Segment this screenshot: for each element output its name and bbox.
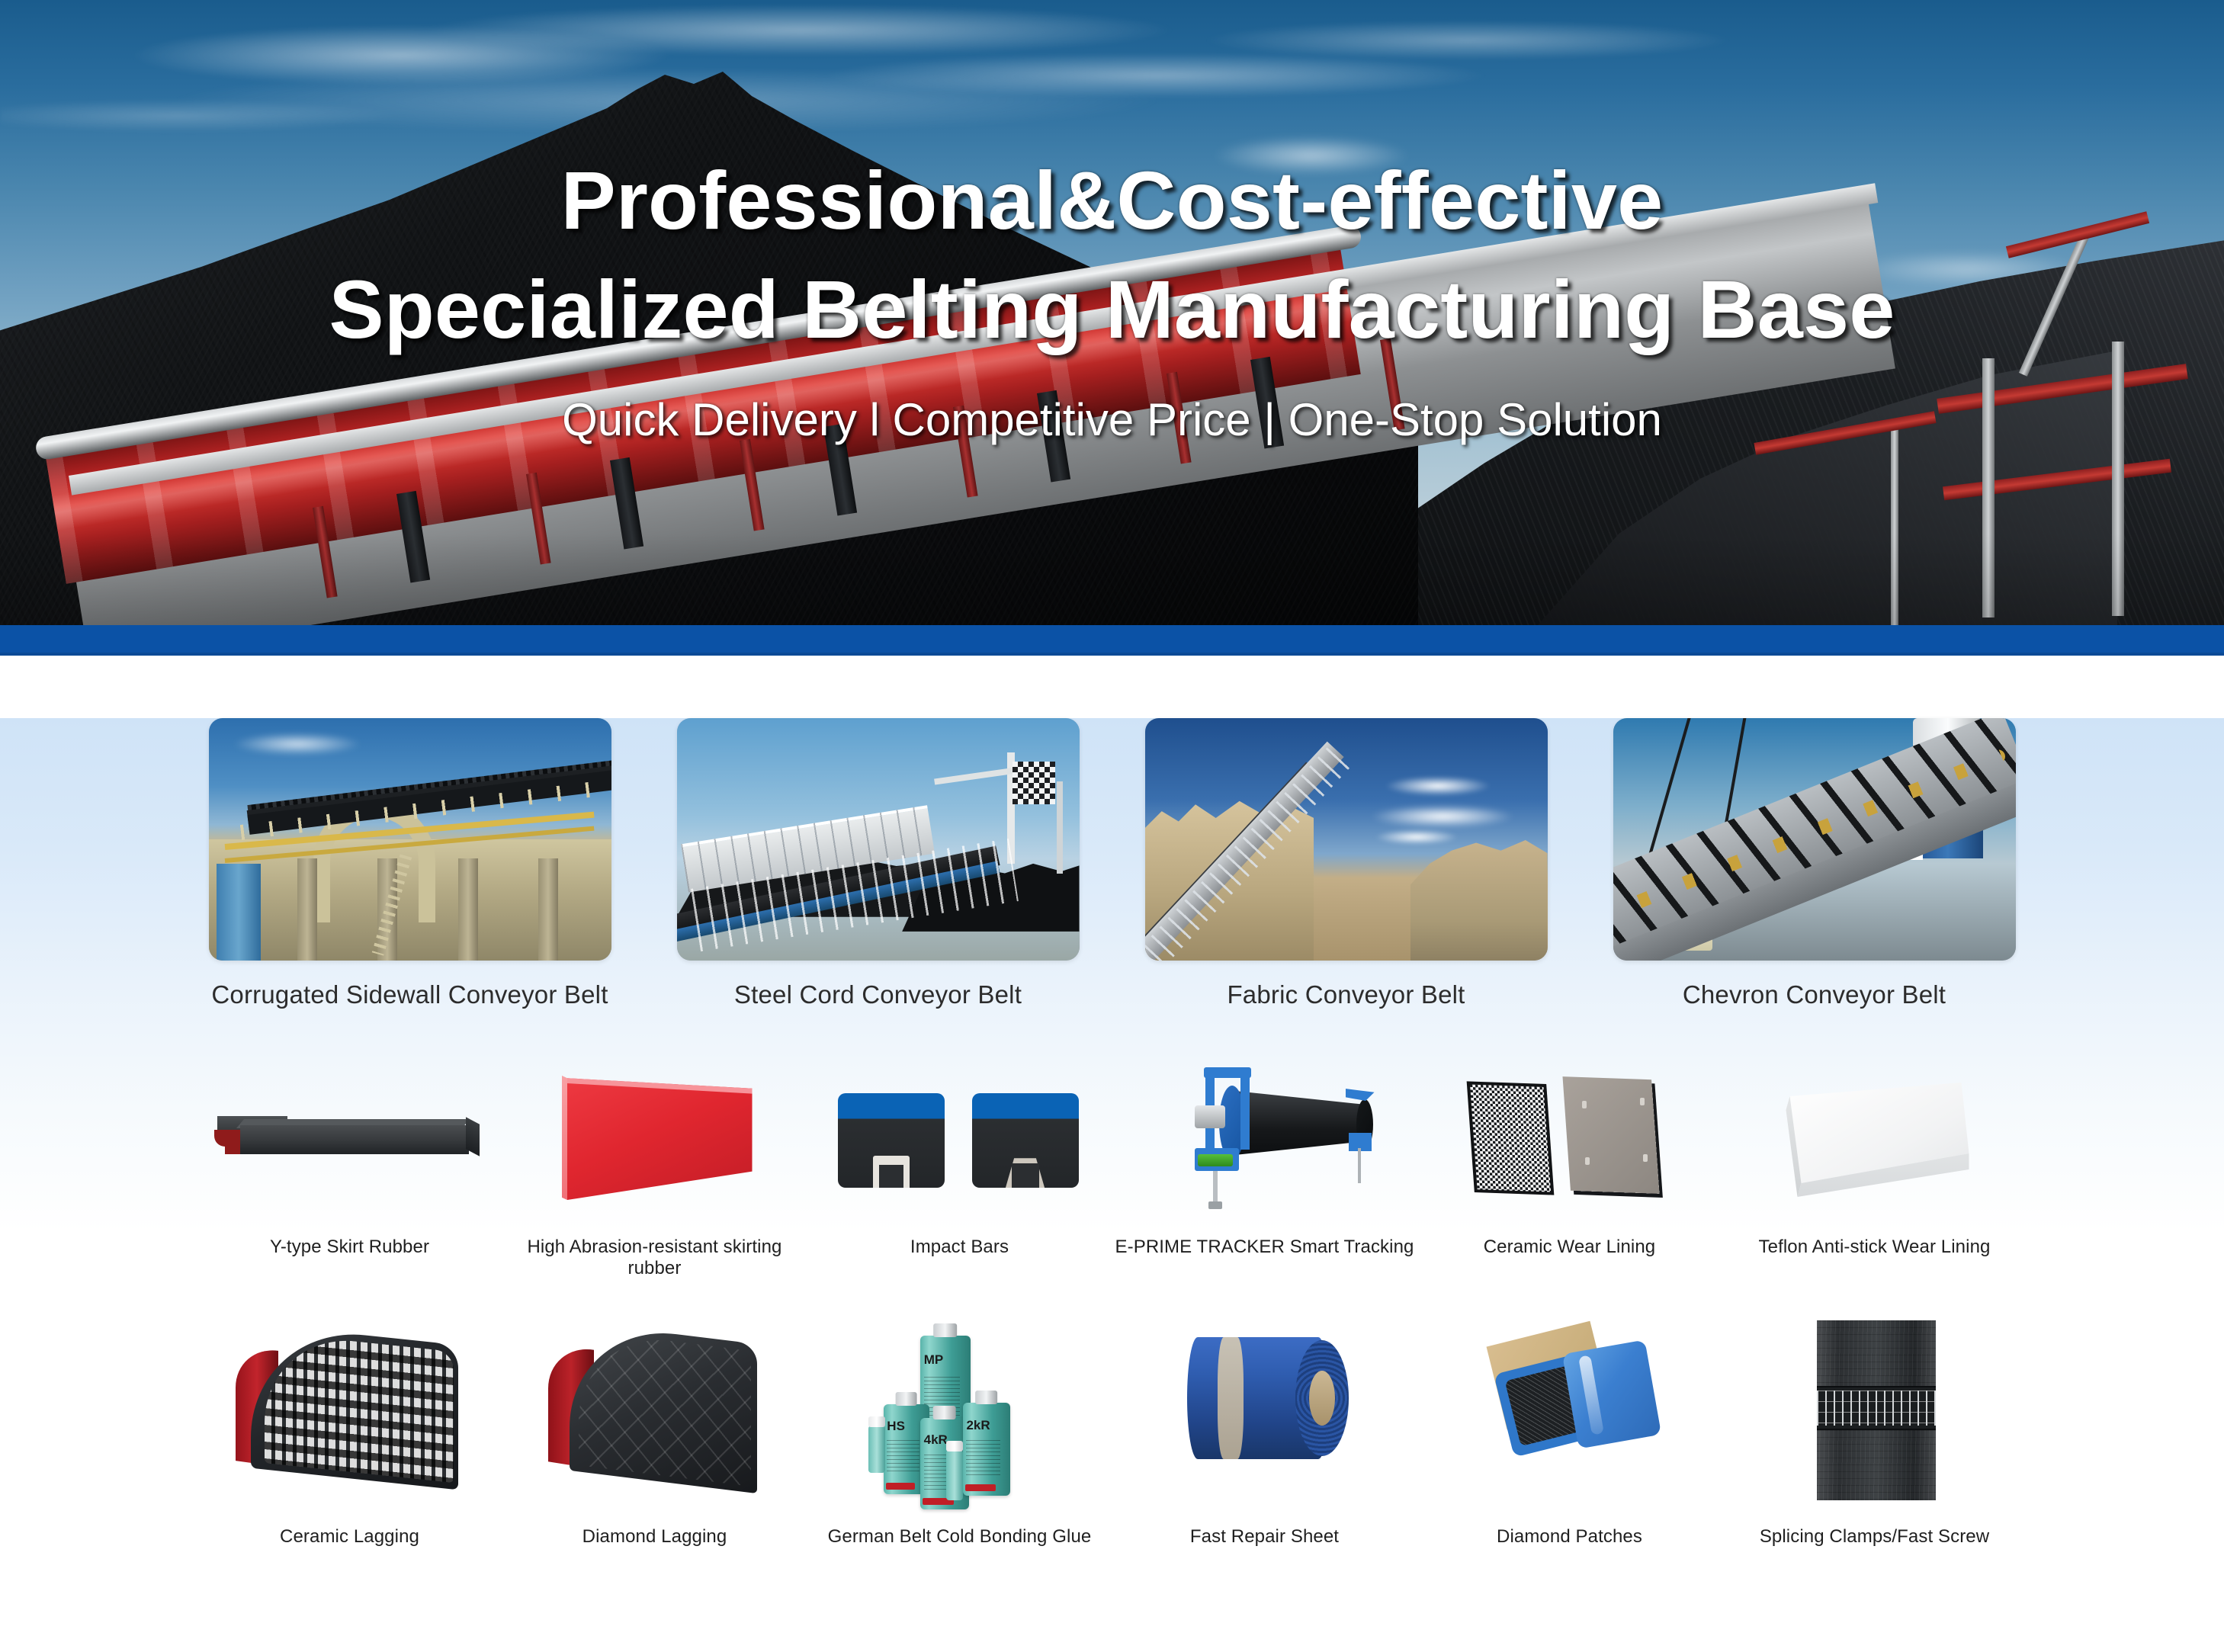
accessory-product-row: Y-type Skirt Rubber High Abrasion-resist… [0,1057,2224,1279]
maintenance-product-row: Ceramic Lagging Diamond Lagging MP [0,1316,2224,1548]
ceramic-lagging-art [197,1316,502,1506]
y-type-skirt-rubber-art [197,1057,502,1217]
splicing-clamps-art [1722,1316,2027,1506]
product-tile-ceramic-wear-lining[interactable]: Ceramic Wear Lining [1417,1057,1722,1279]
repair-roll-art [1112,1316,1417,1506]
product-card-fabric[interactable]: Fabric Conveyor Belt [1145,718,1548,1009]
glue-cans-art: MP HS 4kR 2kR [807,1316,1112,1506]
glue-tube [946,1450,963,1500]
belt-product-row: Corrugated Sidewall Conveyor Belt Steel … [0,718,2224,1009]
product-tile-eprime-tracker[interactable]: E-PRIME TRACKER Smart Tracking [1112,1057,1417,1279]
product-tile-high-abrasion-skirting-rubber[interactable]: High Abrasion-resistant skirting rubber [502,1057,807,1279]
product-tile-teflon-wear-lining[interactable]: Teflon Anti-stick Wear Lining [1722,1057,2027,1279]
glue-can-2kr: 2kR [963,1403,1010,1496]
product-tile-y-type-skirt-rubber[interactable]: Y-type Skirt Rubber [197,1057,502,1279]
teflon-lining-art [1722,1057,2027,1217]
can-label: 2kR [966,1418,990,1433]
can-label: HS [887,1419,905,1434]
impact-bars-art [807,1057,1112,1217]
product-label: Chevron Conveyor Belt [1683,980,1946,1009]
product-card-chevron[interactable]: Chevron Conveyor Belt [1613,718,2016,1009]
product-tile-cold-bonding-glue[interactable]: MP HS 4kR 2kR [807,1316,1112,1548]
ceramic-wear-lining-art [1417,1057,1722,1217]
product-tile-fast-repair-sheet[interactable]: Fast Repair Sheet [1112,1316,1417,1548]
product-label: Ceramic Wear Lining [1484,1237,1656,1258]
can-label: MP [924,1352,944,1368]
product-card-steel-cord[interactable]: Steel Cord Conveyor Belt [677,718,1080,1009]
corrugated-sidewall-conveyor-photo[interactable] [209,718,611,961]
product-label: E-PRIME TRACKER Smart Tracking [1115,1237,1414,1258]
steel-cord-conveyor-photo[interactable] [677,718,1080,961]
product-label: Diamond Patches [1497,1526,1642,1548]
product-label: German Belt Cold Bonding Glue [828,1526,1092,1548]
product-label: Corrugated Sidewall Conveyor Belt [211,980,608,1009]
product-tile-diamond-patches[interactable]: Diamond Patches [1417,1316,1722,1548]
product-label: Fast Repair Sheet [1190,1526,1339,1548]
product-tile-diamond-lagging[interactable]: Diamond Lagging [502,1316,807,1548]
gantry-beam [1937,364,2188,414]
chevron-conveyor-photo[interactable] [1613,718,2016,961]
product-label: Diamond Lagging [582,1526,727,1548]
product-card-corrugated-sidewall[interactable]: Corrugated Sidewall Conveyor Belt [209,718,611,1009]
blue-divider-shadow [0,653,2224,656]
product-label: High Abrasion-resistant skirting rubber [502,1237,807,1279]
product-label: Steel Cord Conveyor Belt [734,980,1022,1009]
product-showcase: Corrugated Sidewall Conveyor Belt Steel … [0,718,2224,1652]
product-tile-splicing-clamps[interactable]: Splicing Clamps/Fast Screw [1722,1316,2027,1548]
diamond-patches-art [1417,1316,1722,1506]
product-label: Teflon Anti-stick Wear Lining [1759,1237,1991,1258]
product-label: Ceramic Lagging [280,1526,419,1548]
blue-divider-bar [0,625,2224,653]
conveyor-illustration [0,0,2224,625]
red-skirting-rubber-art [502,1057,807,1217]
can-label: 4kR [924,1432,948,1448]
gantry-beam [1754,411,1936,454]
hero-banner: Professional&Cost-effective Specialized … [0,0,2224,625]
product-label: Impact Bars [910,1237,1009,1258]
product-label: Splicing Clamps/Fast Screw [1760,1526,1989,1548]
fabric-conveyor-photo[interactable] [1145,718,1548,961]
diamond-lagging-art [502,1316,807,1506]
gantry-brace [2019,233,2089,377]
glue-tube [868,1426,885,1473]
product-tile-impact-bars[interactable]: Impact Bars [807,1057,1112,1279]
product-label: Y-type Skirt Rubber [270,1237,429,1258]
product-label: Fabric Conveyor Belt [1227,980,1465,1009]
gantry-beam [1943,459,2171,500]
product-tile-ceramic-lagging[interactable]: Ceramic Lagging [197,1316,502,1548]
hero-bottom-shade [0,534,2224,625]
tracker-roller-art [1112,1057,1417,1217]
